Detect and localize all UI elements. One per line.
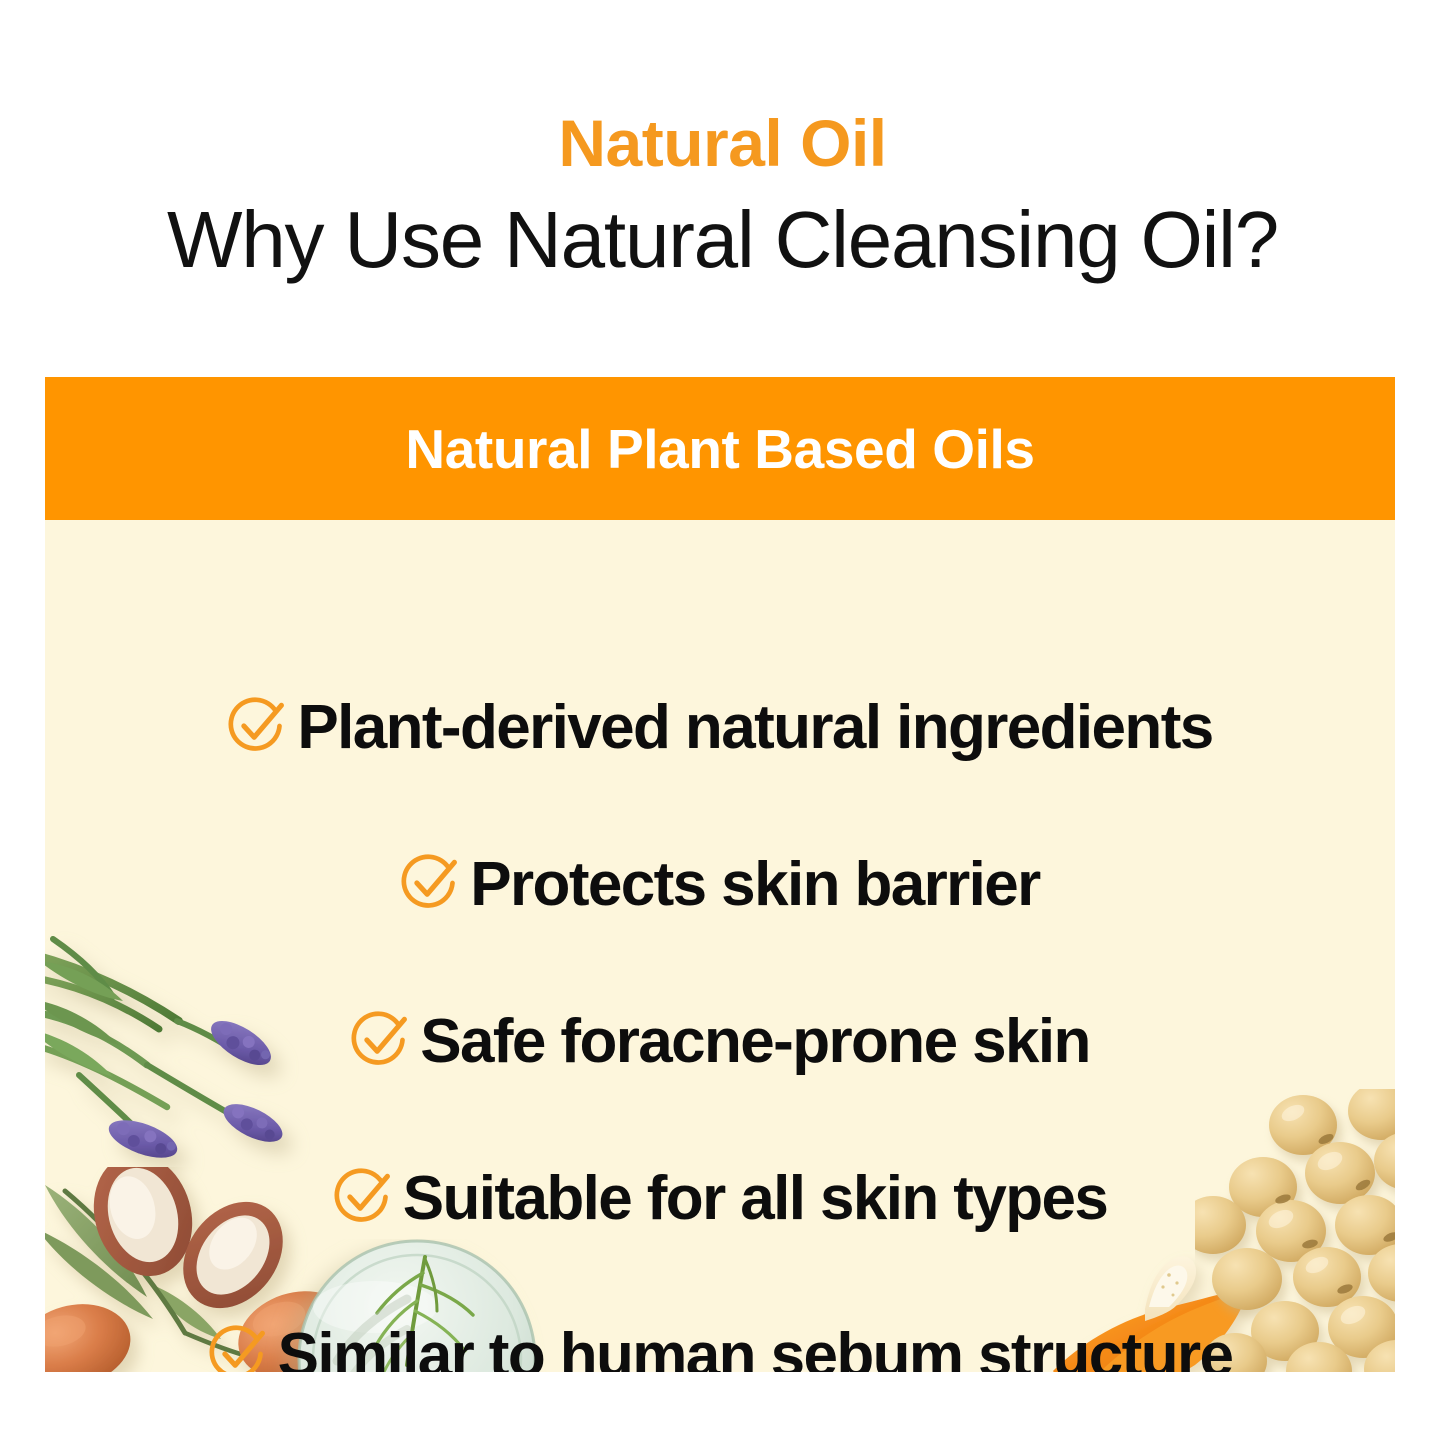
list-item-label: Safe foracne-prone skin <box>420 1011 1090 1073</box>
list-item-label: Plant-derived natural ingredients <box>297 697 1212 759</box>
check-circle-icon <box>208 1324 268 1372</box>
infographic-page: Natural Oil Why Use Natural Cleansing Oi… <box>0 0 1445 1445</box>
list-item-label: Suitable for all skin types <box>403 1168 1107 1230</box>
feature-list: Plant-derived natural ingredients Protec… <box>45 520 1395 1372</box>
list-item-label: Protects skin barrier <box>470 854 1039 916</box>
list-item: Plant-derived natural ingredients <box>227 696 1212 760</box>
eyebrow-title: Natural Oil <box>558 110 886 176</box>
list-item: Safe foracne-prone skin <box>350 1010 1090 1074</box>
card-header-title: Natural Plant Based Oils <box>405 417 1034 481</box>
list-item-label: Similar to human sebum structure <box>278 1325 1233 1372</box>
check-circle-icon <box>400 853 460 913</box>
page-title: Why Use Natural Cleansing Oil? <box>167 198 1278 282</box>
check-circle-icon <box>227 696 287 756</box>
heading-block: Natural Oil Why Use Natural Cleansing Oi… <box>0 0 1445 377</box>
check-circle-icon <box>333 1167 393 1227</box>
list-item: Protects skin barrier <box>400 853 1039 917</box>
list-item: Similar to human sebum structure <box>208 1324 1233 1372</box>
list-item: Suitable for all skin types <box>333 1167 1107 1231</box>
feature-card: Natural Plant Based Oils <box>45 377 1395 1372</box>
card-header: Natural Plant Based Oils <box>45 377 1395 520</box>
check-circle-icon <box>350 1010 410 1070</box>
